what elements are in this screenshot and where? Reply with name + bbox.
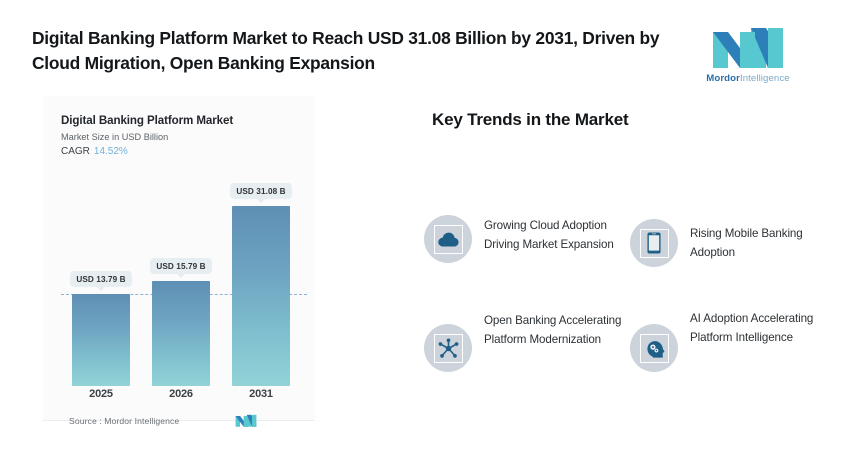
chart-panel: Digital Banking Platform Market Market S…	[43, 96, 315, 421]
network-hub-icon	[438, 338, 459, 359]
bar-value-label: USD 13.79 B	[70, 271, 131, 287]
trend-item-ai-adoption[interactable]: AI Adoption Accelerating Platform Intell…	[630, 310, 836, 415]
x-tick-2031: 2031	[232, 388, 290, 400]
ai-head-gears-icon	[644, 338, 665, 359]
chart-plot-area: USD 13.79 B USD 15.79 B USD 31.08 B	[61, 174, 301, 386]
key-trends-title: Key Trends in the Market	[432, 110, 628, 130]
cagr-label: CAGR	[61, 146, 90, 157]
bar-series: USD 13.79 B USD 15.79 B USD 31.08 B	[61, 174, 301, 386]
key-trends-grid: Growing Cloud Adoption Driving Market Ex…	[424, 205, 836, 415]
mobile-phone-icon	[647, 232, 661, 254]
chart-cagr: CAGR14.52%	[61, 146, 301, 157]
bar-column-2026[interactable]: USD 15.79 B	[152, 174, 210, 386]
bar-column-2031[interactable]: USD 31.08 B	[232, 174, 290, 386]
trend-icon-circle	[630, 324, 678, 372]
brand-name-bold: Mordor	[706, 73, 740, 84]
chart-subtitle: Market Size in USD Billion	[61, 132, 301, 142]
mordor-logo-mark	[711, 26, 785, 68]
trend-item-cloud[interactable]: Growing Cloud Adoption Driving Market Ex…	[424, 205, 630, 310]
chart-source-row: Source : Mordor Intelligence	[69, 414, 301, 427]
x-tick-2026: 2026	[152, 388, 210, 400]
bar-2025[interactable]	[72, 294, 130, 386]
trend-icon-circle	[630, 219, 678, 267]
mordor-logo-mark-small	[235, 414, 257, 427]
brand-wordmark: MordorIntelligence	[706, 73, 789, 84]
trend-item-mobile[interactable]: Rising Mobile Banking Adoption	[630, 205, 836, 310]
page-title: Digital Banking Platform Market to Reach…	[32, 24, 692, 75]
bar-2026[interactable]	[152, 281, 210, 386]
chart-x-axis: 2025 2026 2031	[61, 388, 301, 400]
trend-icon-circle	[424, 324, 472, 372]
brand-name-light: Intelligence	[740, 73, 790, 84]
x-tick-2025: 2025	[72, 388, 130, 400]
source-label: Source : Mordor Intelligence	[69, 416, 179, 426]
icon-frame	[640, 229, 669, 258]
bar-column-2025[interactable]: USD 13.79 B	[72, 174, 130, 386]
trend-item-open-banking[interactable]: Open Banking Accelerating Platform Moder…	[424, 310, 630, 415]
cagr-value: 14.52%	[94, 146, 128, 157]
trend-label: Rising Mobile Banking Adoption	[690, 205, 836, 263]
icon-frame	[640, 334, 669, 363]
trend-label: Open Banking Accelerating Platform Moder…	[484, 310, 630, 350]
icon-frame	[434, 334, 463, 363]
icon-frame	[434, 225, 463, 254]
chart-title: Digital Banking Platform Market	[61, 114, 301, 127]
bar-2031[interactable]	[232, 206, 290, 386]
trend-label: AI Adoption Accelerating Platform Intell…	[690, 310, 836, 348]
brand-logo: MordorIntelligence	[692, 26, 804, 84]
trend-label: Growing Cloud Adoption Driving Market Ex…	[484, 205, 630, 255]
cloud-icon	[438, 232, 459, 247]
trend-icon-circle	[424, 215, 472, 263]
bar-value-label: USD 15.79 B	[150, 258, 211, 274]
bar-value-label: USD 31.08 B	[230, 183, 291, 199]
page-header: Digital Banking Platform Market to Reach…	[0, 0, 860, 90]
